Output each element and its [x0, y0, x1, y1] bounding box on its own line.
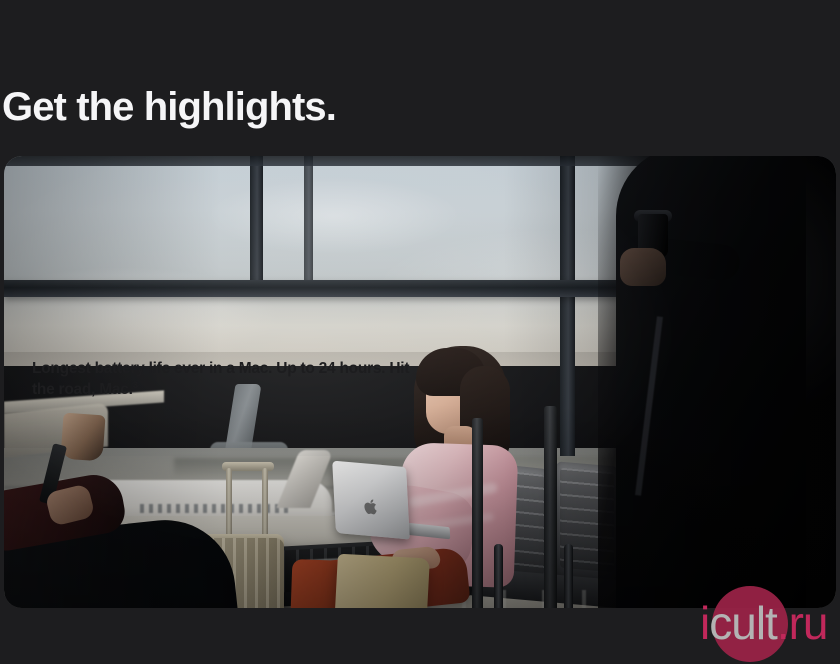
bench-post-1 — [472, 418, 483, 608]
watermark-cult: cult — [709, 597, 777, 649]
window-mullion-vertical-3 — [304, 156, 313, 284]
red-suitcase-handle-right — [564, 544, 573, 608]
watermark-i: i — [700, 597, 709, 649]
page-root: Get the highlights. — [0, 0, 840, 664]
page-title: Get the highlights. — [2, 83, 336, 131]
card-caption: Longest battery life ever in a Mac. Up t… — [32, 358, 412, 400]
window-mullion-vertical-1 — [250, 156, 263, 280]
foreground-seated-person — [4, 386, 264, 608]
watermark-ru: .ru — [777, 597, 828, 649]
highlight-card[interactable]: Longest battery life ever in a Mac. Up t… — [4, 156, 836, 608]
window-mullion-vertical-2 — [560, 156, 575, 456]
tan-bag — [330, 554, 430, 608]
icult-ru-watermark: icult.ru — [700, 586, 840, 656]
macbook-laptop — [334, 464, 438, 548]
red-suitcase-handle-left — [494, 544, 503, 608]
standing-person-silhouette — [598, 156, 836, 608]
apple-logo-icon — [364, 497, 380, 516]
caption-footnote-marker: 3 — [133, 379, 138, 390]
watermark-text: icult.ru — [700, 598, 828, 648]
caption-text: Longest battery life ever in a Mac. Up t… — [32, 360, 409, 398]
bench-post-2 — [544, 406, 557, 608]
foreground-paper-cup — [60, 413, 105, 462]
standing-person-hand — [620, 248, 666, 286]
